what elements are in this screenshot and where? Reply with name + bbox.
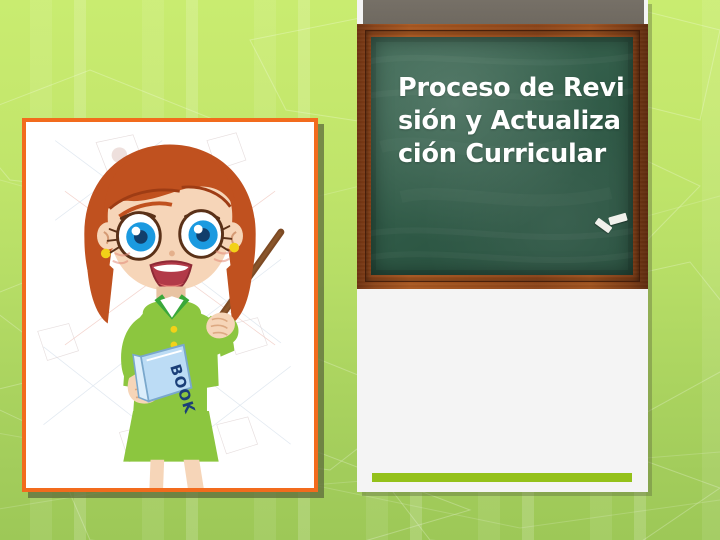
slide-title: Proceso de Revisión y Actualización Curr… <box>398 72 630 171</box>
chalkboard-slate: Proceso de Revisión y Actualización Curr… <box>371 37 633 275</box>
eye-left-icon <box>117 213 160 260</box>
teacher-illustration-icon: BOOK <box>26 122 314 488</box>
chalkboard-wall <box>363 0 644 24</box>
eye-right-icon <box>180 211 223 258</box>
teacher-picture: BOOK <box>26 122 314 488</box>
teacher-picture-frame[interactable]: BOOK <box>22 118 318 492</box>
slide-canvas: BOOK <box>0 0 720 540</box>
earring-icon <box>101 249 111 259</box>
content-panel: Proceso de Revisión y Actualización Curr… <box>357 0 648 492</box>
content-body-placeholder[interactable] <box>357 289 648 492</box>
accent-bar <box>372 473 632 482</box>
chalkboard-photo: Proceso de Revisión y Actualización Curr… <box>357 0 648 289</box>
